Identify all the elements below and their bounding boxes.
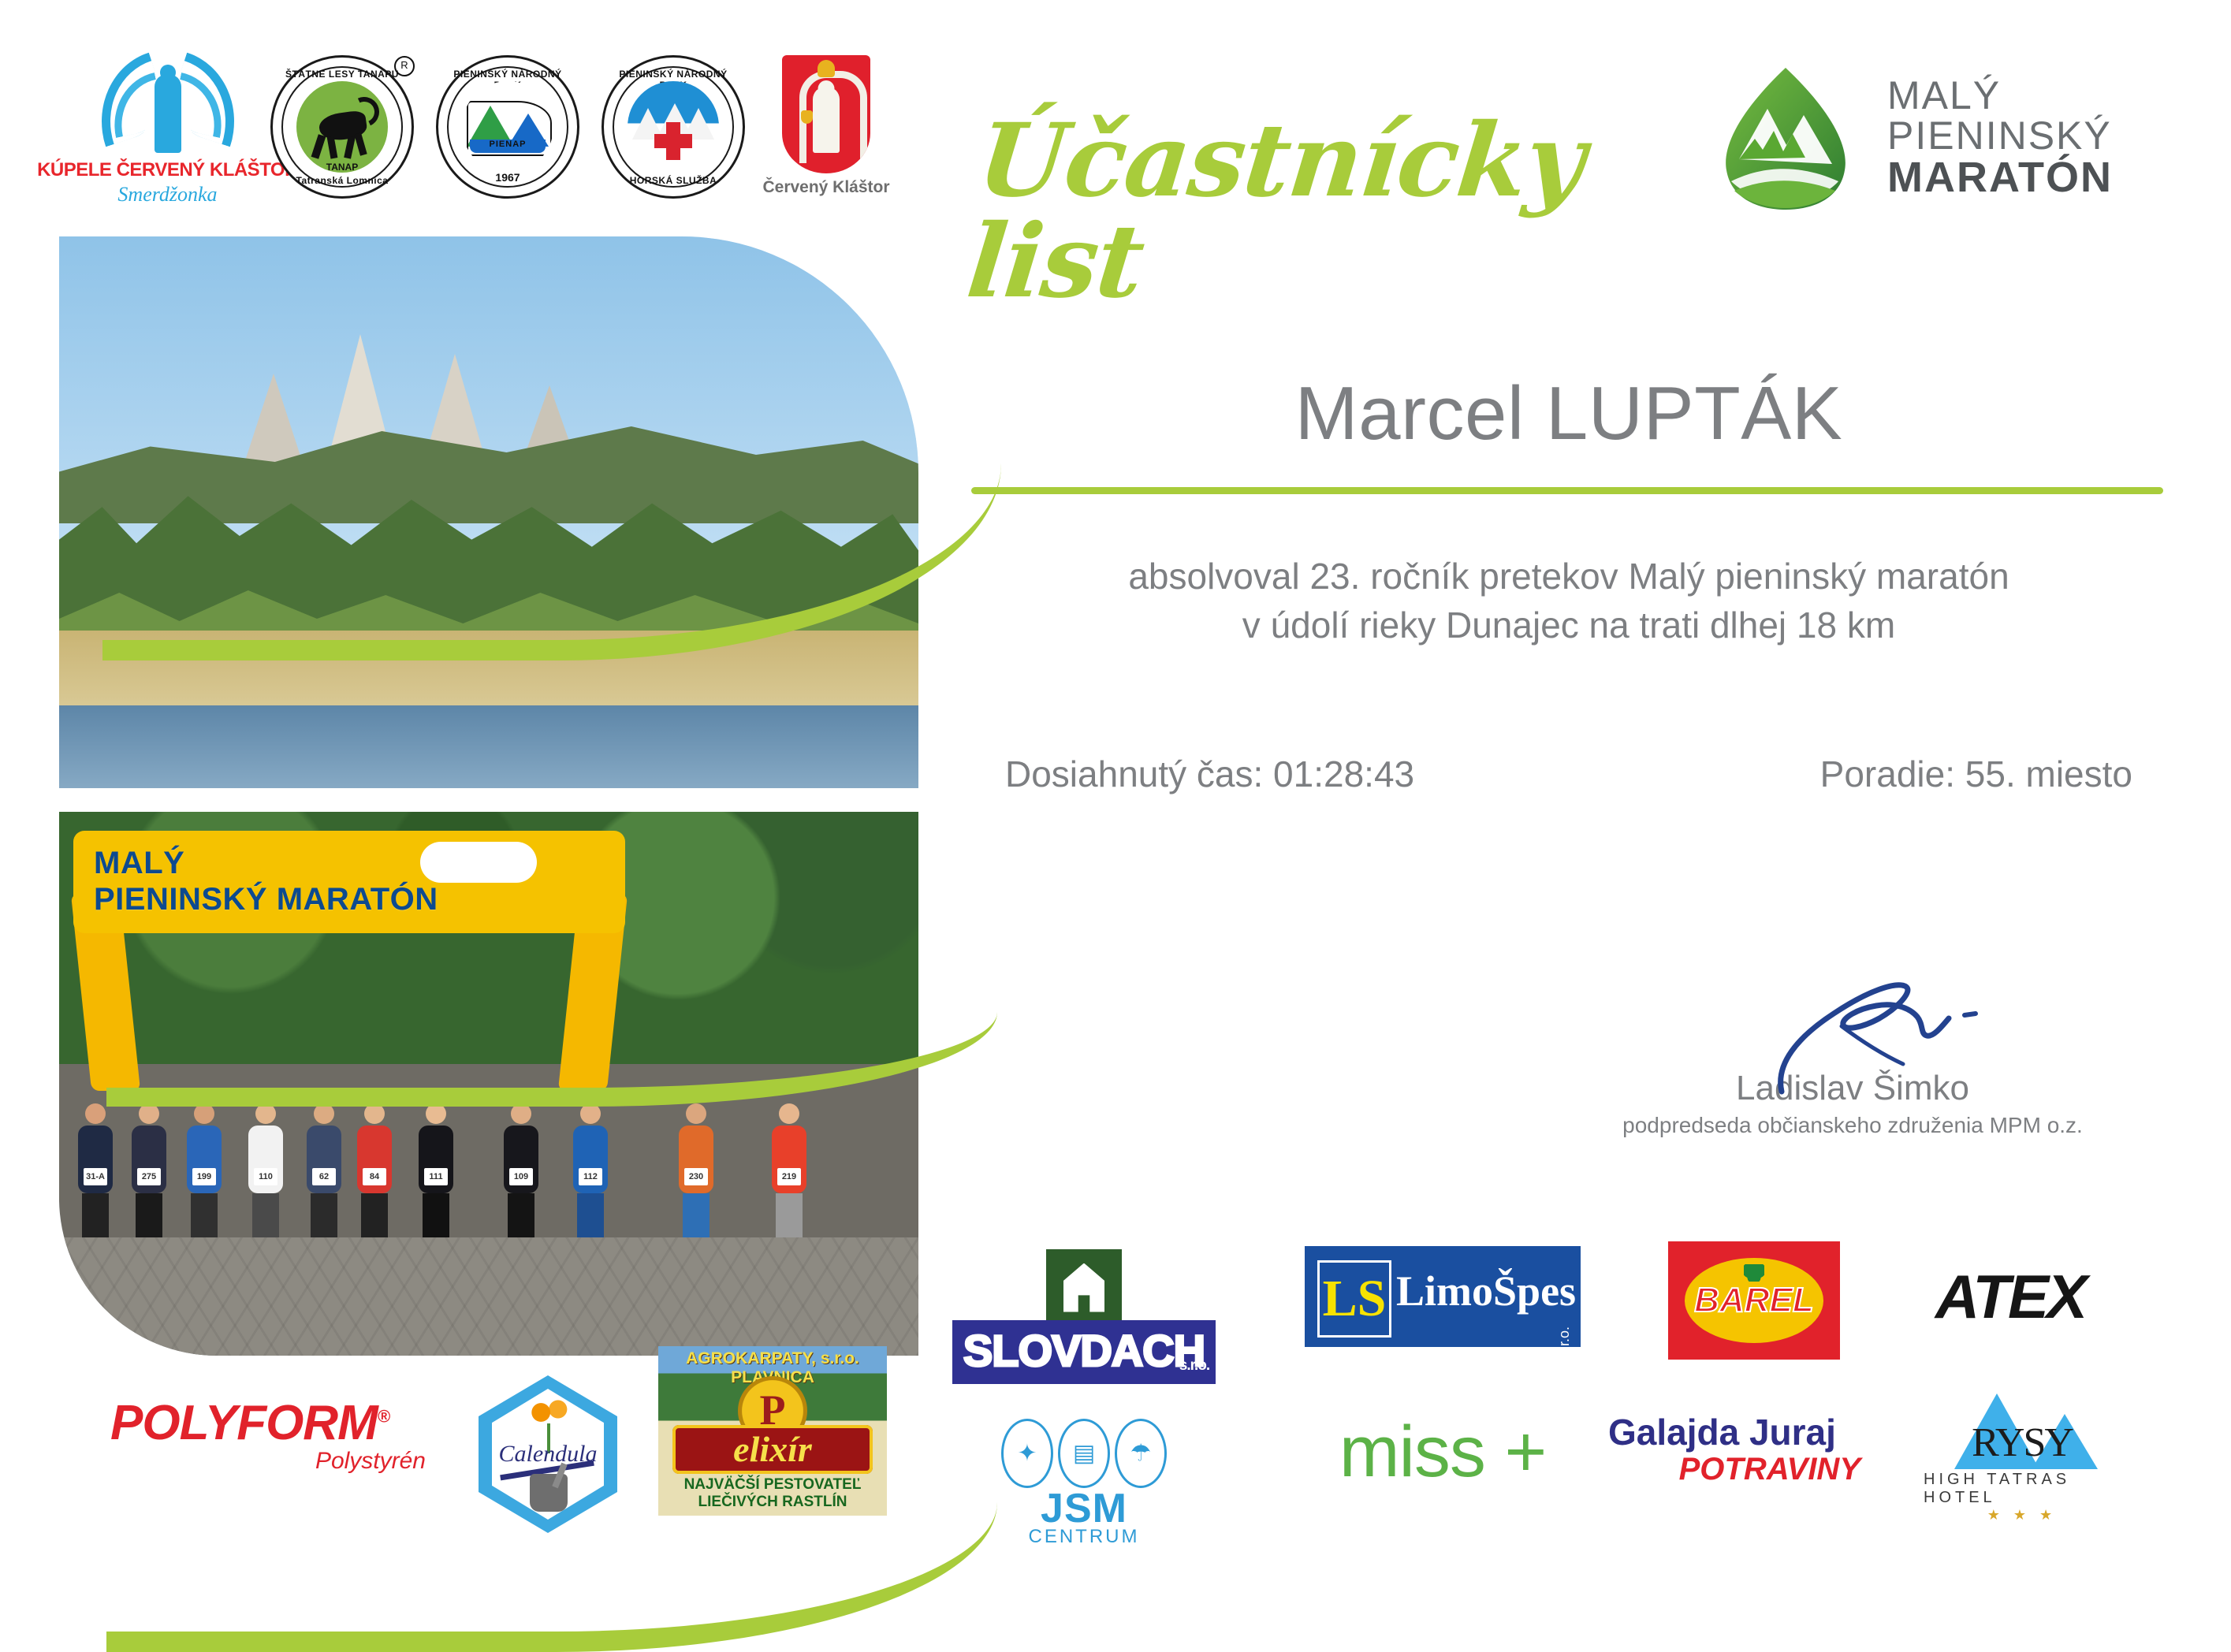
sponsor-rysy-hotel: RYSY HIGH TATRAS HOTEL ★ ★ ★ xyxy=(1924,1387,2121,1524)
seal-arc-bottom: Tatranská Lomnica xyxy=(273,175,412,186)
logo-cerveny-klastor-crest: Červený Kláštor xyxy=(767,55,885,197)
event-logo-line1: MALÝ xyxy=(1887,76,2113,116)
paint-roller-icon: ▤ xyxy=(1058,1419,1110,1488)
sponsor-jsm-centrum: ✦ ▤ ☂ JSM CENTRUM xyxy=(981,1419,1186,1548)
polyform-name: POLYFORM® xyxy=(110,1395,389,1451)
pienap-year: 1967 xyxy=(438,171,577,184)
seal-icon: R ŠTÁTNE LESY TANAPU TANAP Tatranská Lom… xyxy=(270,55,414,199)
leaf-mountain-icon xyxy=(1711,63,1860,213)
chamois-icon xyxy=(308,97,376,157)
sponsor-elixir-agrokarpaty: AGROKARPATY, s.r.o. PLAVNICA elixír NAJV… xyxy=(654,1340,891,1521)
event-logo: MALÝ PIENINSKÝ MARATÓN xyxy=(1711,63,2199,213)
miss-name: miss + xyxy=(1339,1411,1546,1494)
seal-icon: PIENINSKÝ NÁRODNÝ PARK HORSKÁ SLUŽBA xyxy=(602,55,745,199)
limospes-name: LimoŠpes xyxy=(1396,1267,1576,1315)
achievement-text: absolvoval 23. ročník pretekov Malý pien… xyxy=(974,552,2164,649)
sponsor-polyform: POLYFORM® Polystyrén xyxy=(110,1395,426,1475)
limospes-mark-icon: LS xyxy=(1317,1260,1391,1338)
seal-arc-top: ŠTÁTNE LESY TANAPU xyxy=(273,69,412,80)
atex-name: ATEX xyxy=(1935,1261,2085,1333)
achievement-line-1: absolvoval 23. ročník pretekov Malý pien… xyxy=(974,552,2164,601)
seal-arc-bottom: HORSKÁ SLUŽBA xyxy=(604,175,743,186)
runner-bib: 275 xyxy=(137,1168,161,1185)
elixir-bottom-text: NAJVÄČŠÍ PESTOVATEĽ LIEČIVÝCH RASTLÍN xyxy=(658,1476,887,1511)
jsm-icons: ✦ ▤ ☂ xyxy=(1001,1419,1167,1488)
limospes-suffix: s.r.o. xyxy=(1556,1326,1573,1357)
event-logo-line3: MARATÓN xyxy=(1887,156,2113,199)
arch-line2: PIENINSKÝ MARATÓN xyxy=(94,881,438,917)
runner-bib: 84 xyxy=(363,1168,386,1185)
sponsor-galajda-juraj: Galajda Juraj POTRAVINY xyxy=(1608,1411,1860,1487)
galajda-sub: POTRAVINY xyxy=(1679,1452,1860,1487)
barel-name: BAREL xyxy=(1694,1281,1814,1320)
hexagon-badge-icon: Calendula xyxy=(479,1375,617,1533)
jsm-name: JSM xyxy=(1041,1485,1127,1532)
runner-bib: 110 xyxy=(254,1168,277,1185)
sponsor-miss-plus: miss + xyxy=(1309,1411,1577,1494)
name-divider xyxy=(971,487,2163,494)
event-logo-line2: PIENINSKÝ xyxy=(1887,116,2113,156)
runner-bib: 111 xyxy=(424,1168,448,1185)
polyform-sub: Polystyrén xyxy=(315,1448,426,1475)
sponsor-calendula: Calendula xyxy=(473,1371,623,1537)
achievement-line-2: v údolí rieky Dunajec na trati dlhej 18 … xyxy=(974,601,2164,649)
logo-pieninsky-narodny-park: PIENINSKÝ NÁRODNÝ PARK PIENAP 1967 xyxy=(436,55,579,199)
certificate-title: Účastnícky list xyxy=(963,110,1773,312)
rysy-stars: ★ ★ ★ xyxy=(1987,1507,2057,1524)
sponsor-limospes: LS LimoŠpes s.r.o. xyxy=(1301,1237,1585,1356)
rysy-name: RYSY xyxy=(1943,1419,2101,1466)
runner-bib: 31-A xyxy=(84,1168,107,1185)
result-row: Dosiahnutý čas: 01:28:43 Poradie: 55. mi… xyxy=(974,753,2164,795)
spray-icon: ☂ xyxy=(1115,1419,1167,1488)
mountain-peaks-icon: RYSY xyxy=(1943,1387,2101,1469)
runner-bib: 219 xyxy=(777,1168,801,1185)
photo-panel: MALÝ PIENINSKÝ MARATÓN 31-A 275 199 110 … xyxy=(59,236,918,1356)
runner-bib: 62 xyxy=(312,1168,336,1185)
runner-bib: 112 xyxy=(579,1168,602,1185)
angel-icon xyxy=(89,55,247,158)
elixir-name: elixír xyxy=(672,1428,873,1470)
pienap-mark: PIENAP xyxy=(467,140,549,149)
coat-of-arms-icon xyxy=(782,55,870,173)
sponsor-slovdach: SLOVDACHs.r.o. xyxy=(966,1237,1202,1395)
logo-kupele-line1: KÚPELE ČERVENÝ KLÁŠTOR xyxy=(37,159,298,181)
signature-block: Ladislav Šimko podpredseda občianskeho z… xyxy=(1585,969,2121,1138)
crest-label: Červený Kláštor xyxy=(762,178,889,197)
sponsor-barel: BAREL xyxy=(1663,1237,1845,1364)
arch-line1: MALÝ xyxy=(94,845,438,881)
photo-tri-koruny-dunajec xyxy=(59,236,918,788)
runner-bib: 199 xyxy=(192,1168,216,1185)
mortar-pestle-icon xyxy=(530,1474,568,1512)
runner-bib: 109 xyxy=(509,1168,533,1185)
runner-bib: 230 xyxy=(684,1168,708,1185)
jsm-sub: CENTRUM xyxy=(1029,1526,1140,1548)
partner-logos-row: KÚPELE ČERVENÝ KLÁŠTOR Smerdžonka R ŠTÁT… xyxy=(87,55,907,229)
clover-icon xyxy=(1744,1264,1764,1282)
house-roof-icon xyxy=(1046,1249,1122,1325)
tanap-mark: TANAP xyxy=(296,163,388,171)
logo-statne-lesy-tanapu: R ŠTÁTNE LESY TANAPU TANAP Tatranská Lom… xyxy=(270,55,414,199)
recipient-name: Marcel LUPTÁK xyxy=(974,370,2164,457)
logo-kupele-line2: Smerdžonka xyxy=(117,183,217,206)
mountain-river-icon: PIENAP xyxy=(467,101,549,153)
galajda-name: Galajda Juraj xyxy=(1608,1411,1836,1453)
paint-brush-icon: ✦ xyxy=(1001,1419,1053,1488)
sponsor-atex: ATEX xyxy=(1892,1261,2129,1333)
slovdach-name: SLOVDACHs.r.o. xyxy=(952,1320,1216,1384)
rysy-sub: HIGH TATRAS HOTEL xyxy=(1924,1471,2121,1507)
runners-crowd: 31-A 275 199 110 62 84 111 109 112 230 2… xyxy=(59,1003,918,1263)
result-time: Dosiahnutý čas: 01:28:43 xyxy=(1005,753,1414,795)
logo-horska-sluzba: PIENINSKÝ NÁRODNÝ PARK HORSKÁ SLUŽBA xyxy=(602,55,745,199)
signatory-role: podpredseda občianskeho združenia MPM o.… xyxy=(1585,1113,2121,1138)
result-rank: Poradie: 55. miesto xyxy=(1820,753,2132,795)
photo-race-start: MALÝ PIENINSKÝ MARATÓN 31-A 275 199 110 … xyxy=(59,812,918,1356)
logo-kupele-cerveny-klastor: KÚPELE ČERVENÝ KLÁŠTOR Smerdžonka xyxy=(87,55,248,206)
seal-icon: PIENINSKÝ NÁRODNÝ PARK PIENAP 1967 xyxy=(436,55,579,199)
handwritten-signature-icon xyxy=(1585,969,2121,1088)
